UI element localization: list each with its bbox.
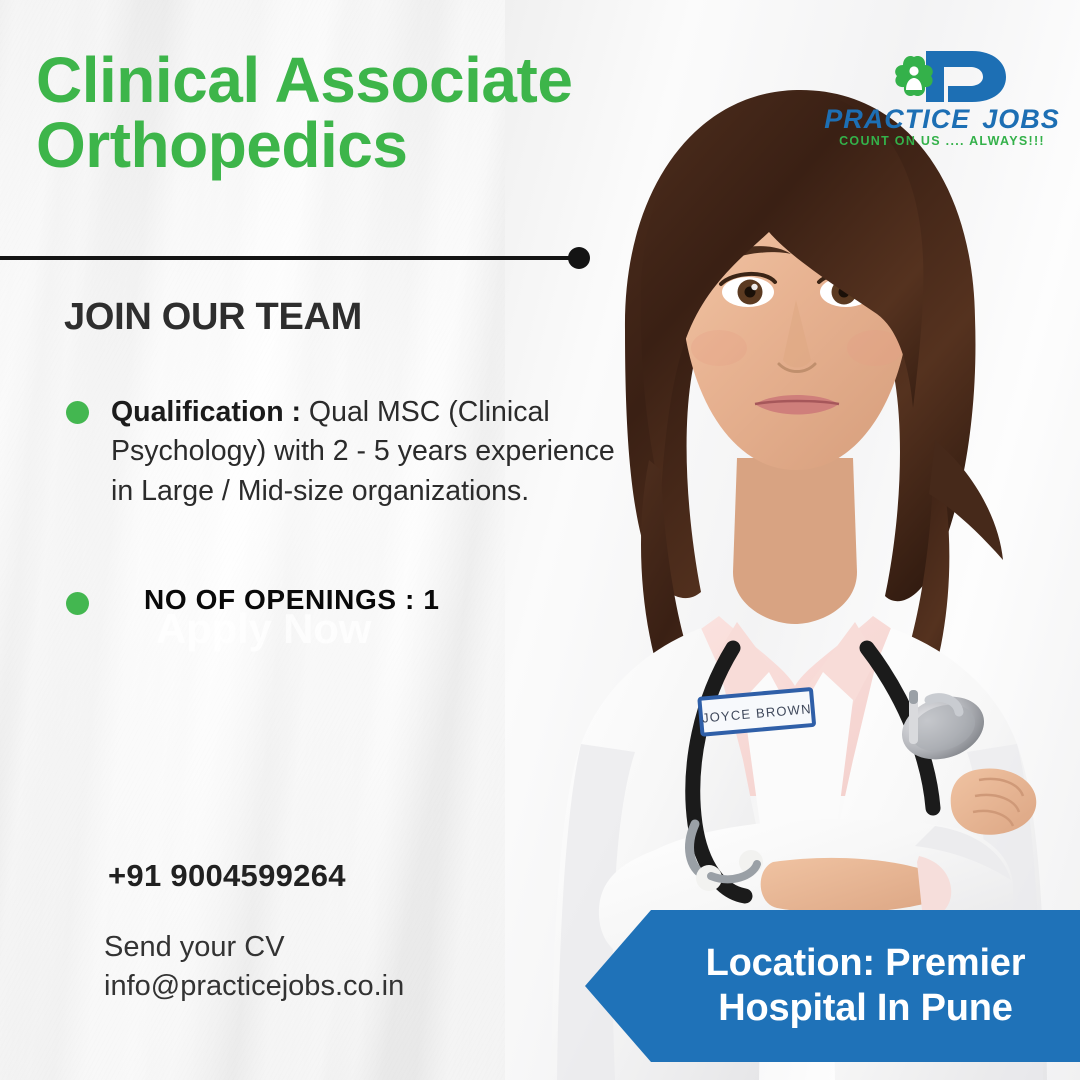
practice-jobs-mark-icon <box>886 48 1018 104</box>
contact-email[interactable]: Send your CV info@practicejobs.co.in <box>104 928 404 1005</box>
job-posting-poster: JOYCE BROWN Clinical Associate Orthopedi… <box>0 0 1080 1080</box>
brand-logo[interactable]: PRACTICEJOBS COUNT ON US .... ALWAYS!!! <box>824 48 1060 152</box>
logo-wordmark: PRACTICEJOBS <box>824 104 1060 135</box>
logo-word-jobs: JOBS <box>982 104 1060 134</box>
bullet-dot-icon <box>66 401 89 424</box>
qualification-text: Qualification : Qual MSC (Clinical Psych… <box>111 393 626 511</box>
openings-bullet: NO OF OPENINGS : 1 <box>66 584 586 616</box>
logo-tagline: COUNT ON US .... ALWAYS!!! <box>824 134 1060 148</box>
page-title: Clinical Associate Orthopedics <box>36 48 636 179</box>
divider-line <box>0 256 578 260</box>
openings-text: NO OF OPENINGS : 1 <box>144 584 440 616</box>
logo-word-practice: PRACTICE <box>824 104 970 134</box>
qualification-label: Qualification : <box>111 396 301 428</box>
qualification-bullet: Qualification : Qual MSC (Clinical Psych… <box>66 393 626 511</box>
section-heading: JOIN OUR TEAM <box>64 296 362 339</box>
contact-phone[interactable]: +91 9004599264 <box>108 858 346 894</box>
bullet-dot-icon <box>66 592 89 615</box>
location-banner: Location: Premier Hospital In Pune <box>585 910 1080 1062</box>
divider-dot <box>568 247 590 269</box>
location-banner-text: Location: Premier Hospital In Pune <box>651 910 1080 1062</box>
